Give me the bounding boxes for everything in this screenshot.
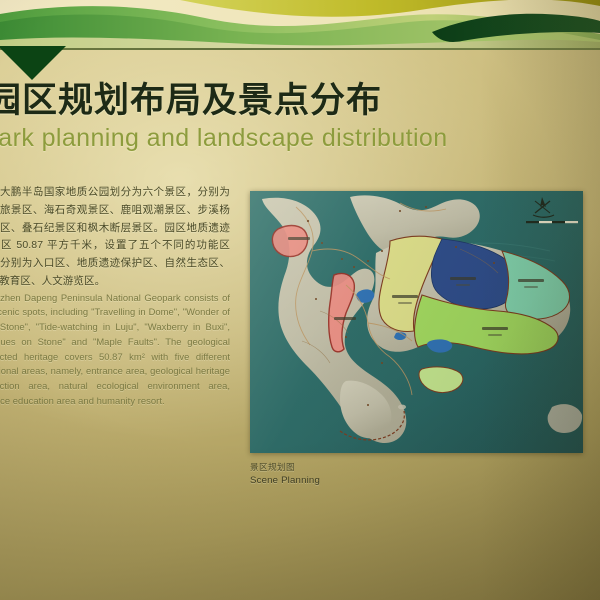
banner-divider-rule xyxy=(0,48,600,50)
banner-waves-icon xyxy=(0,0,600,50)
scene-planning-map xyxy=(250,191,583,453)
map-caption: 景区规划图 Scene Planning xyxy=(250,462,320,487)
map-caption-zh: 景区规划图 xyxy=(250,462,320,473)
page-title-en: park planning and landscape distribution xyxy=(0,124,600,153)
poster-panel: 园区规划布局及景点分布 park planning and landscape … xyxy=(0,0,600,600)
page-title-zh: 园区规划布局及景点分布 xyxy=(0,72,600,123)
map-graphic-icon xyxy=(250,191,583,453)
description-paragraph-zh: 深圳大鹏半岛国家地质公园划分为六个景区，分别为穹窿旅景区、海石奇观景区、鹿咀观潮… xyxy=(0,184,230,291)
scale-bar-icon xyxy=(526,221,578,223)
description-paragraph-en: Shenzhen Dapeng Peninsula National Geopa… xyxy=(0,291,230,409)
description-block: 深圳大鹏半岛国家地质公园划分为六个景区，分别为穹窿旅景区、海石奇观景区、鹿咀观潮… xyxy=(0,184,230,408)
top-banner-graphic xyxy=(0,0,600,50)
map-caption-en: Scene Planning xyxy=(250,474,320,487)
